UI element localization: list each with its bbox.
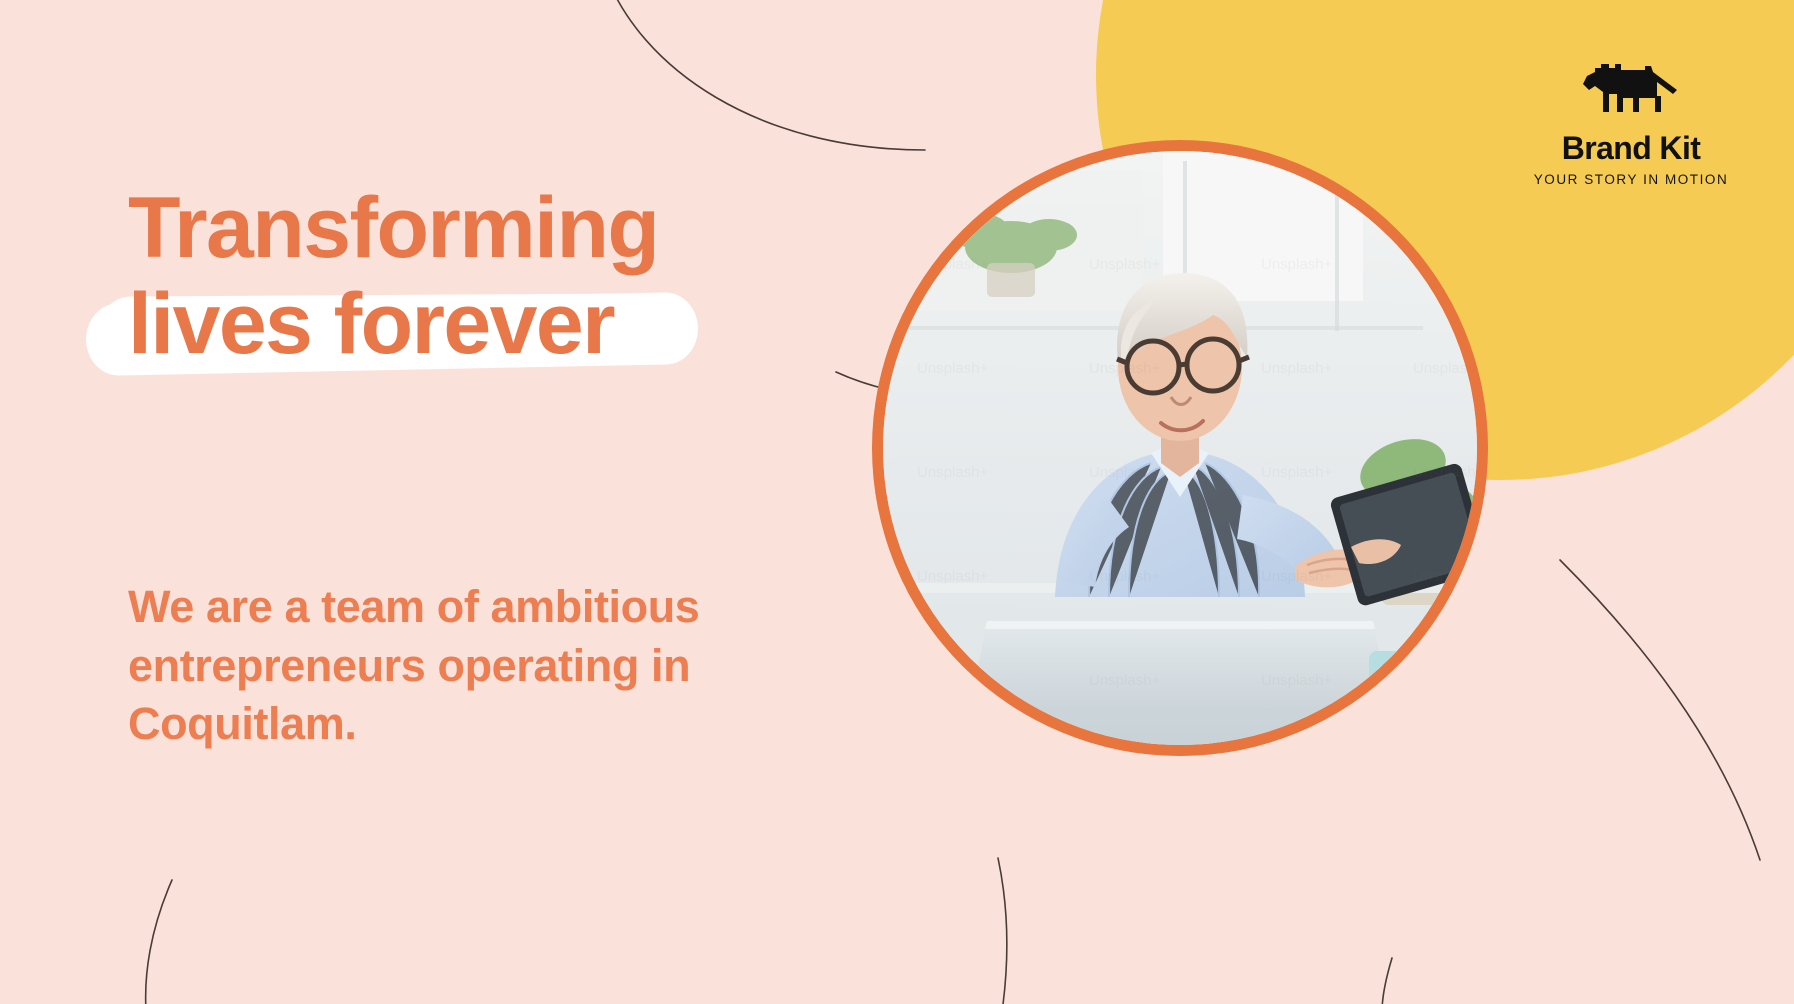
svg-text:Unsplash+: Unsplash+ (1413, 360, 1477, 377)
subcopy-line-2: entrepreneurs operating in (128, 637, 828, 696)
svg-text:Unsplash+: Unsplash+ (1261, 256, 1333, 273)
page-title: Transforming lives forever (128, 180, 848, 373)
arc-right-line (1560, 560, 1760, 860)
svg-text:Unsplash+: Unsplash+ (1413, 464, 1477, 481)
arc-bottom-right-line (1382, 958, 1392, 1004)
photo-image: Unsplash+Unsplash+Unsplash+Unsplash+ Uns… (883, 151, 1477, 745)
svg-text:Unsplash+: Unsplash+ (1089, 256, 1161, 273)
photo-circle-frame: Unsplash+Unsplash+Unsplash+Unsplash+ Uns… (872, 140, 1488, 756)
photo-illustration: Unsplash+Unsplash+Unsplash+Unsplash+ Uns… (883, 151, 1477, 745)
svg-text:Unsplash+: Unsplash+ (1261, 464, 1333, 481)
headline-line-2: lives forever (128, 276, 848, 372)
svg-text:Unsplash+: Unsplash+ (1261, 568, 1333, 585)
arc-bottom-center-line (998, 858, 1007, 1004)
svg-text:Unsplash+: Unsplash+ (917, 360, 989, 377)
logo-name: Brand Kit (1516, 132, 1746, 164)
left-content-column: Transforming lives forever We are a team… (0, 0, 880, 1004)
lion-icon (1579, 60, 1683, 122)
svg-text:Unsplash+: Unsplash+ (1089, 464, 1161, 481)
svg-text:Unsplash+: Unsplash+ (1261, 672, 1333, 689)
svg-text:Unsplash+: Unsplash+ (1089, 672, 1161, 689)
subcopy-line-1: We are a team of ambitious (128, 578, 828, 637)
subheading-paragraph: We are a team of ambitious entrepreneurs… (128, 578, 828, 754)
brand-logo: Brand Kit YOUR STORY IN MOTION (1516, 60, 1746, 187)
svg-text:Unsplash+: Unsplash+ (917, 568, 989, 585)
logo-tagline: YOUR STORY IN MOTION (1516, 173, 1746, 187)
svg-text:Unsplash+: Unsplash+ (917, 464, 989, 481)
svg-text:Unsplash+: Unsplash+ (1089, 568, 1161, 585)
headline-line-1: Transforming (128, 180, 848, 276)
svg-text:Unsplash+: Unsplash+ (1261, 360, 1333, 377)
slide-canvas: Transforming lives forever We are a team… (0, 0, 1794, 1004)
svg-text:Unsplash+: Unsplash+ (1089, 360, 1161, 377)
subcopy-line-3: Coquitlam. (128, 695, 828, 754)
headline-block: Transforming lives forever (128, 180, 848, 373)
